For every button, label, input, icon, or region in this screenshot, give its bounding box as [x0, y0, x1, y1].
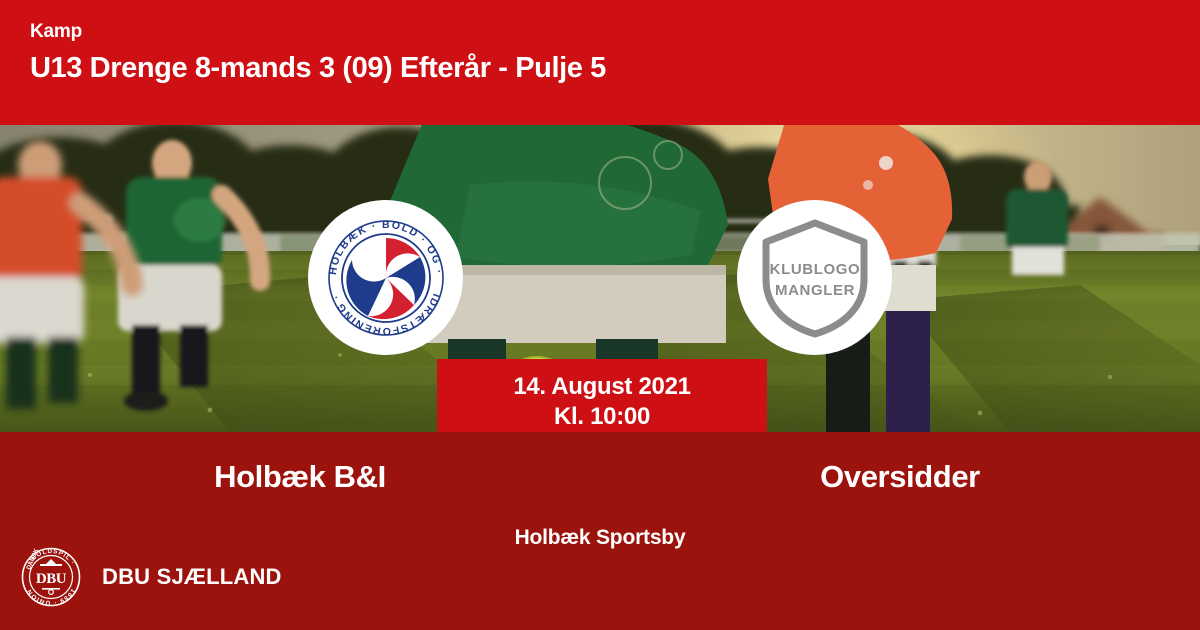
shield-placeholder-icon: KLUBLOGO MANGLER	[756, 216, 874, 340]
teams-row: Holbæk B&I Oversidder	[0, 456, 1200, 498]
footer-org-label: DBU SJÆLLAND	[102, 564, 282, 590]
home-team-name: Holbæk B&I	[0, 456, 600, 498]
match-date: 14. August 2021	[513, 372, 690, 402]
svg-text:DBU: DBU	[36, 571, 67, 587]
placeholder-line-2: MANGLER	[774, 282, 854, 299]
footer: · BOLDSPIL · 1889 · UNION DANSK DBU DBU …	[20, 546, 282, 608]
dbu-crest-icon: · BOLDSPIL · 1889 · UNION DANSK DBU	[20, 546, 82, 608]
away-club-logo-placeholder[interactable]: KLUBLOGO MANGLER	[737, 200, 892, 355]
holbaek-crest-icon: HOLBÆK · BOLD · OG · IDRÆTSFORENING ·	[320, 212, 452, 344]
kamp-label: Kamp	[30, 20, 1170, 44]
competition-title: U13 Drenge 8-mands 3 (09) Efterår - Pulj…	[30, 48, 1170, 88]
placeholder-line-1: KLUBLOGO	[769, 261, 860, 278]
match-time: Kl. 10:00	[554, 402, 650, 432]
away-team-name: Oversidder	[600, 456, 1200, 498]
home-club-logo[interactable]: HOLBÆK · BOLD · OG · IDRÆTSFORENING ·	[308, 200, 463, 355]
match-announcement-card: Kamp U13 Drenge 8-mands 3 (09) Efterår -…	[0, 0, 1200, 630]
header-banner: Kamp U13 Drenge 8-mands 3 (09) Efterår -…	[0, 0, 1200, 125]
